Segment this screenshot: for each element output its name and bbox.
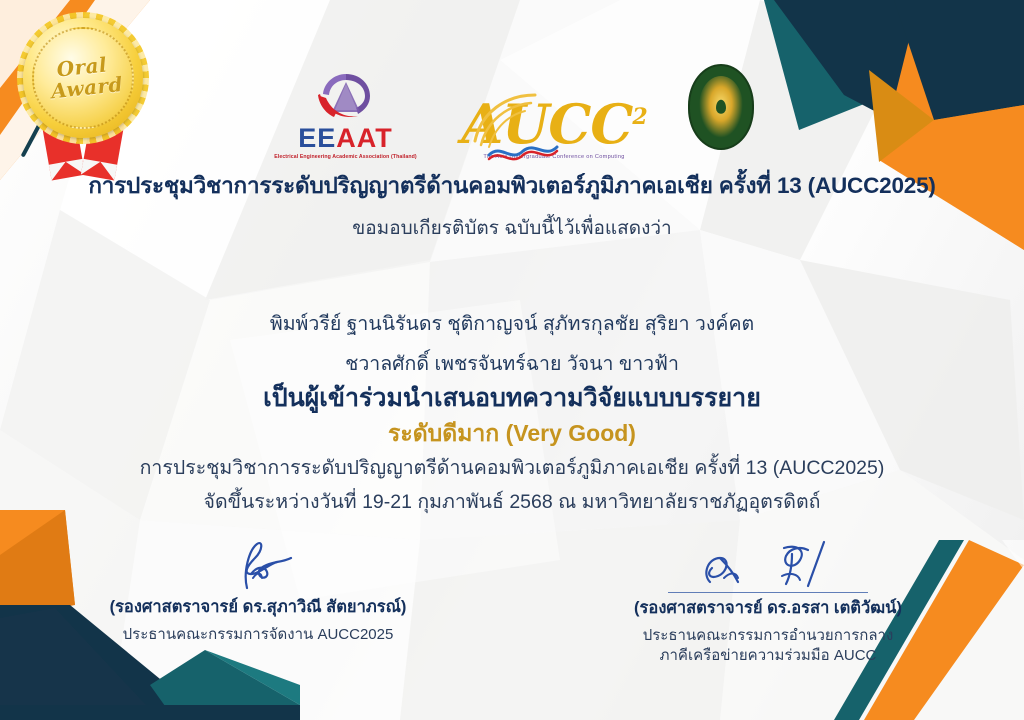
aucc-ribbon-icon [487,139,561,165]
event-detail-line1: การประชุมวิชาการระดับปริญญาตรีด้านคอมพิว… [0,452,1024,483]
page-title: การประชุมวิชาการระดับปริญญาตรีด้านคอมพิว… [0,167,1024,203]
eeaat-emblem-icon [271,70,421,125]
eeaat-subtitle: Electrical Engineering Academic Associat… [271,154,421,160]
certificate-subtitle: ขอมอบเกียรติบัตร ฉบับนี้ไว้เพื่อแสดงว่า [0,213,1024,243]
signature-block-left: (รองศาสตราจารย์ ดร.สุภาวิณี สัตยาภรณ์) ป… [48,540,468,645]
aucc-superscript: 2 [632,104,646,130]
signature-name-left: (รองศาสตราจารย์ ดร.สุภาวิณี สัตยาภรณ์) [48,594,468,620]
signature-mark-left [48,540,468,592]
university-logo [688,64,754,160]
eeaat-word-ee: EE [298,123,336,153]
signature-rule-right [668,592,868,593]
recipient-names-line1: พิมพ์วรีย์ ฐานนิรันดร ชุติกาญจน์ สุภัทรก… [0,308,1024,339]
certificate-page: Oral Award EEAAT Electrical Engineering … [0,0,1024,720]
eeaat-wordmark: EEAAT [271,125,421,152]
eeaat-word-aat: AAT [336,123,393,153]
signature-role-right-2: ภาคีเครือข่ายความร่วมมือ AUCC [558,646,978,666]
signature-mark-right [558,540,978,592]
aucc-logo: AUCC2 The Asia Undergraduate Conference … [447,99,662,160]
signature-role-right-1: ประธานคณะกรรมการอำนวยการกลาง [558,626,978,646]
university-seal-emblem [716,100,726,114]
eeaat-logo: EEAAT Electrical Engineering Academic As… [271,70,421,160]
logo-row: EEAAT Electrical Engineering Academic As… [0,55,1024,160]
award-type-text: เป็นผู้เข้าร่วมนำเสนอบทความวิจัยแบบบรรยา… [0,378,1024,418]
signature-name-right: (รองศาสตราจารย์ ดร.อรสา เตติวัฒน์) [558,595,978,621]
signature-role-left-1: ประธานคณะกรรมการจัดงาน AUCC2025 [48,625,468,645]
university-seal-icon [688,64,754,150]
event-detail-line2: จัดขึ้นระหว่างวันที่ 19-21 กุมภาพันธ์ 25… [0,486,1024,517]
signature-block-right: (รองศาสตราจารย์ ดร.อรสา เตติวัฒน์) ประธา… [558,540,978,667]
recipient-names-line2: ชวาลศักดิ์ เพชรจันทร์ฉาย วัจนา ขาวฟ้า [0,348,1024,379]
award-level-text: ระดับดีมาก (Very Good) [0,416,1024,452]
